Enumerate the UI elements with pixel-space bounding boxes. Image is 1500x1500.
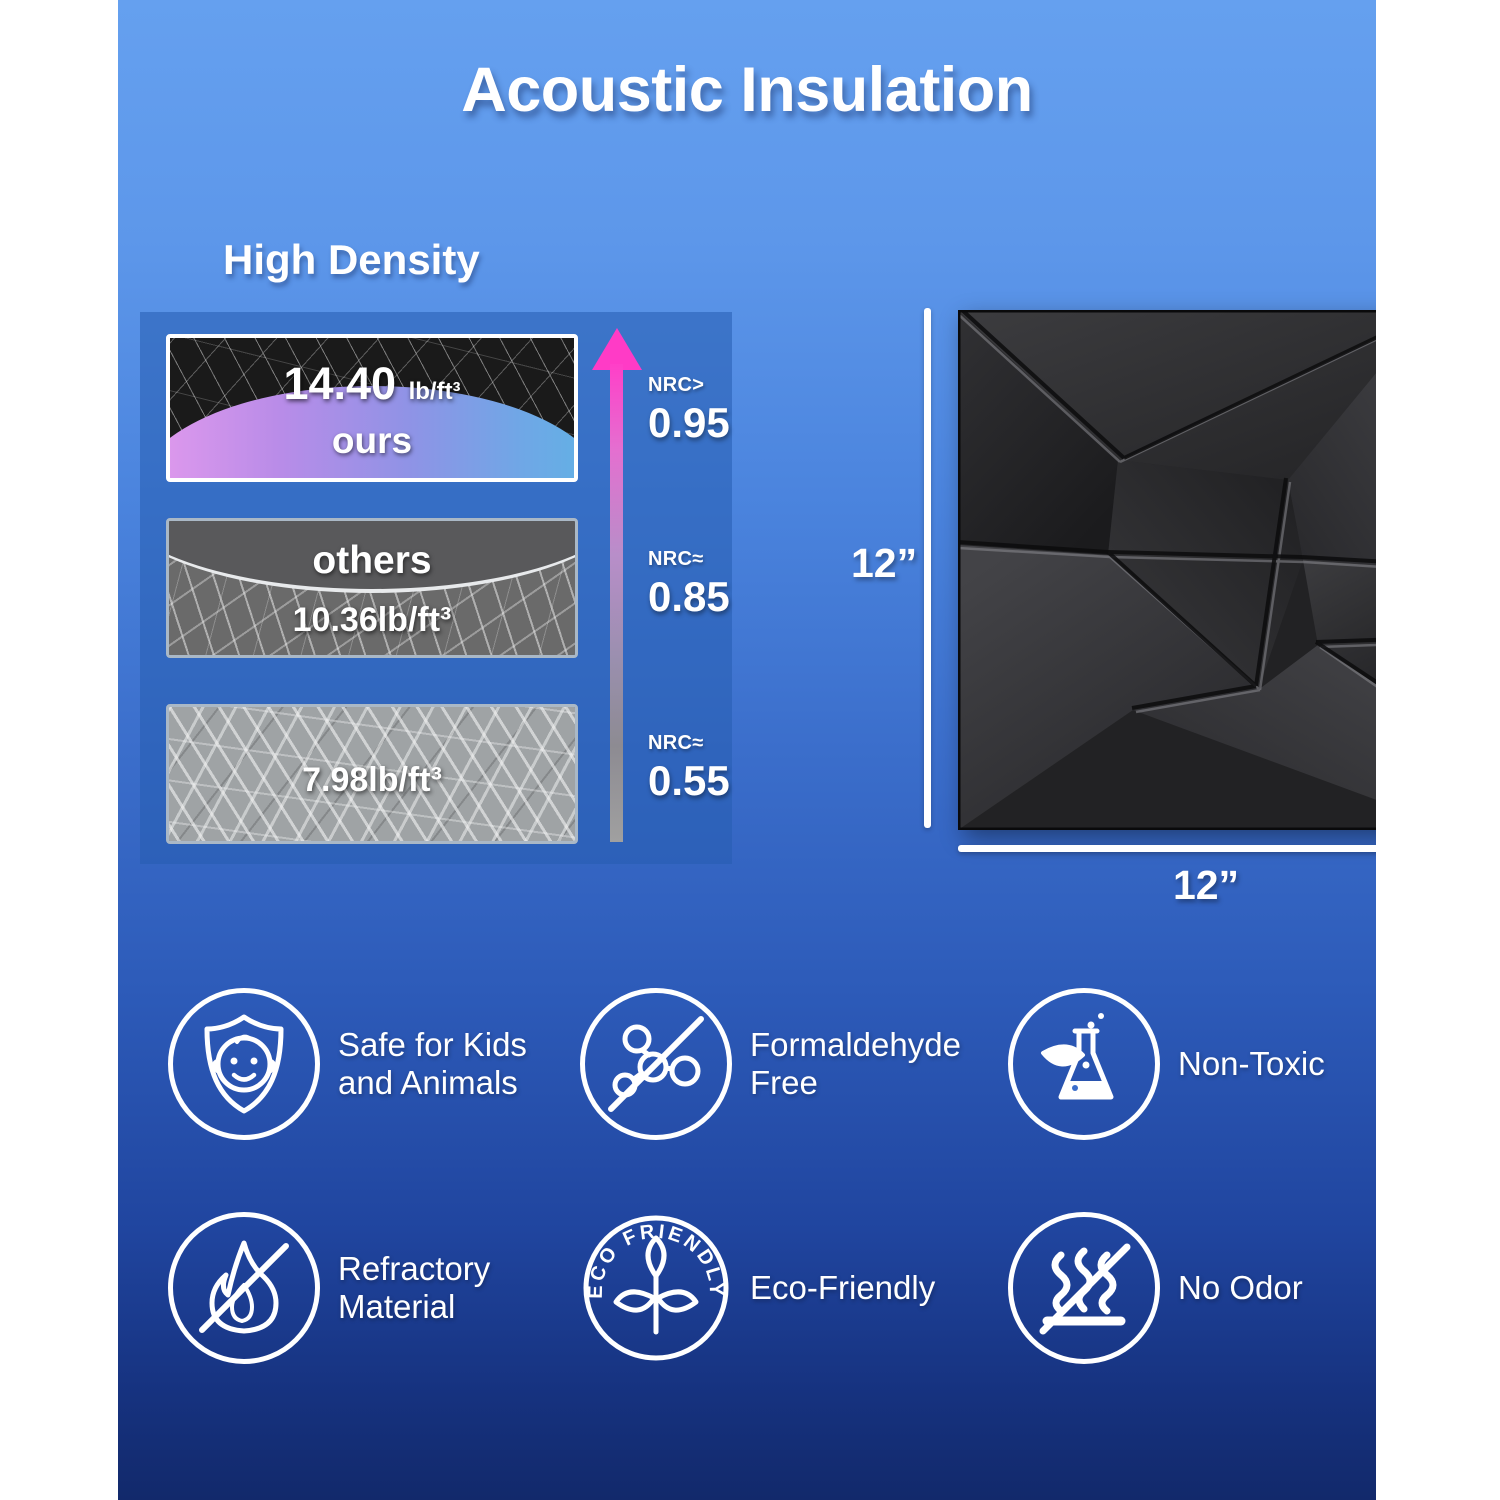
nrc-value-ours: 0.95 [648,399,730,447]
feature-label: Refractory Material [338,1250,490,1325]
feature-refractory-material: Refractory Material [168,1212,490,1364]
nrc-group-others: NRC≈ 0.85 [648,548,730,621]
feature-label: Safe for Kids and Animals [338,1026,527,1101]
density-value-low: 7.98lb/ft³ [169,761,575,800]
feature-safe-for-kids: Safe for Kids and Animals [168,988,527,1140]
poster-canvas: Acoustic Insulation High Density 14.40 l… [0,0,1500,1500]
nrc-prefix-ours: NRC> [648,374,730,397]
feature-label: No Odor [1178,1269,1303,1307]
feature-formaldehyde-free: Formaldehyde Free [580,988,961,1140]
density-number-ours: 14.40 [283,358,396,409]
nrc-value-low: 0.55 [648,757,730,805]
nrc-prefix-low: NRC≈ [648,732,730,755]
nrc-group-ours: NRC> 0.95 [648,374,730,447]
dimension-label-height: 12” [851,540,917,587]
page-title: Acoustic Insulation [118,54,1376,126]
nrc-prefix-others: NRC≈ [648,548,730,571]
density-card-others: others 10.36lb/ft³ [166,518,578,658]
density-card-low: 7.98lb/ft³ [166,704,578,844]
feature-label: Formaldehyde Free [750,1026,961,1101]
density-card-ours: 14.40 lb/ft³ ours [166,334,578,482]
poster-background: Acoustic Insulation High Density 14.40 l… [118,0,1376,1500]
arrow-shaft [610,364,623,842]
product-photo-acoustic-panel [958,310,1376,830]
density-label-ours: ours [170,420,574,462]
section-heading-high-density: High Density [223,236,480,284]
feature-label: Non-Toxic [1178,1045,1325,1083]
eco-friendly-seal-icon: ECO FRIENDLY [580,1212,732,1364]
density-comparison-panel: 14.40 lb/ft³ ours others 10.36lb/ft³ 7.9… [140,312,732,864]
density-unit-ours: lb/ft³ [409,378,461,405]
dimension-line-horizontal [958,845,1376,852]
no-odor-icon [1008,1212,1160,1364]
density-label-others: others [169,539,575,583]
dimension-line-vertical [924,308,931,828]
feature-no-odor: No Odor [1008,1212,1303,1364]
no-flame-icon [168,1212,320,1364]
acoustic-panel-graphic [958,310,1376,830]
flask-leaf-icon [1008,988,1160,1140]
dimension-label-width: 12” [958,862,1376,909]
nrc-value-others: 0.85 [648,573,730,621]
no-molecule-icon [580,988,732,1140]
feature-label: Eco-Friendly [750,1269,935,1307]
feature-non-toxic: Non-Toxic [1008,988,1325,1140]
density-value-ours: 14.40 lb/ft³ [170,358,574,410]
feature-eco-friendly: ECO FRIENDLY Eco-Friendly [580,1212,935,1364]
nrc-group-low: NRC≈ 0.55 [648,732,730,805]
density-value-others: 10.36lb/ft³ [169,601,575,640]
shield-baby-icon [168,988,320,1140]
